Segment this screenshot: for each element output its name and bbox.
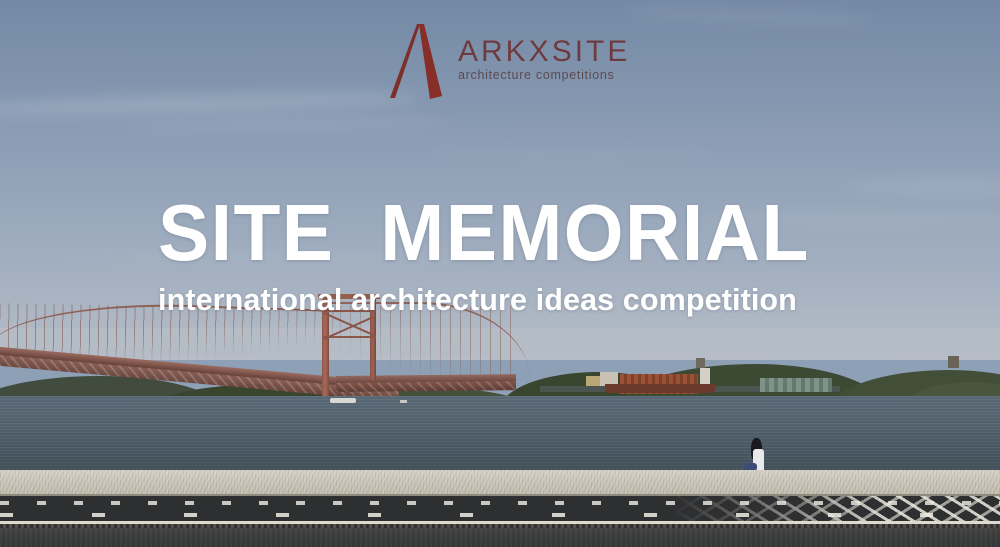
road-gutter xyxy=(0,524,1000,528)
cirrus-cloud xyxy=(845,178,1000,192)
sea-wall xyxy=(0,470,1000,495)
competition-banner: ARKXSITE architecture competitions SITE … xyxy=(0,0,1000,547)
ferry-boat xyxy=(400,400,407,403)
cirrus-cloud xyxy=(0,90,420,119)
cobblestone-pavement xyxy=(0,496,1000,524)
cirrus-cloud xyxy=(620,5,880,26)
brand-name: ARKXSITE xyxy=(458,37,630,67)
seated-person xyxy=(744,438,770,472)
hero-text-block: SITE MEMORIAL international architecture… xyxy=(158,196,918,315)
cirrus-cloud xyxy=(120,117,450,133)
brand-logo[interactable]: ARKXSITE architecture competitions xyxy=(386,22,630,100)
river-water xyxy=(0,396,1000,478)
arkxsite-triangle-icon xyxy=(386,22,448,100)
page-subtitle: international architecture ideas competi… xyxy=(158,284,907,315)
ferry-boat xyxy=(330,398,356,403)
pavement-mosaic xyxy=(670,496,1000,524)
bridge-truss xyxy=(336,381,516,392)
page-title: SITE MEMORIAL xyxy=(158,196,888,270)
cirrus-cloud xyxy=(420,150,720,159)
brand-tagline: architecture competitions xyxy=(458,69,630,82)
brand-wordmark: ARKXSITE architecture competitions xyxy=(458,37,630,86)
